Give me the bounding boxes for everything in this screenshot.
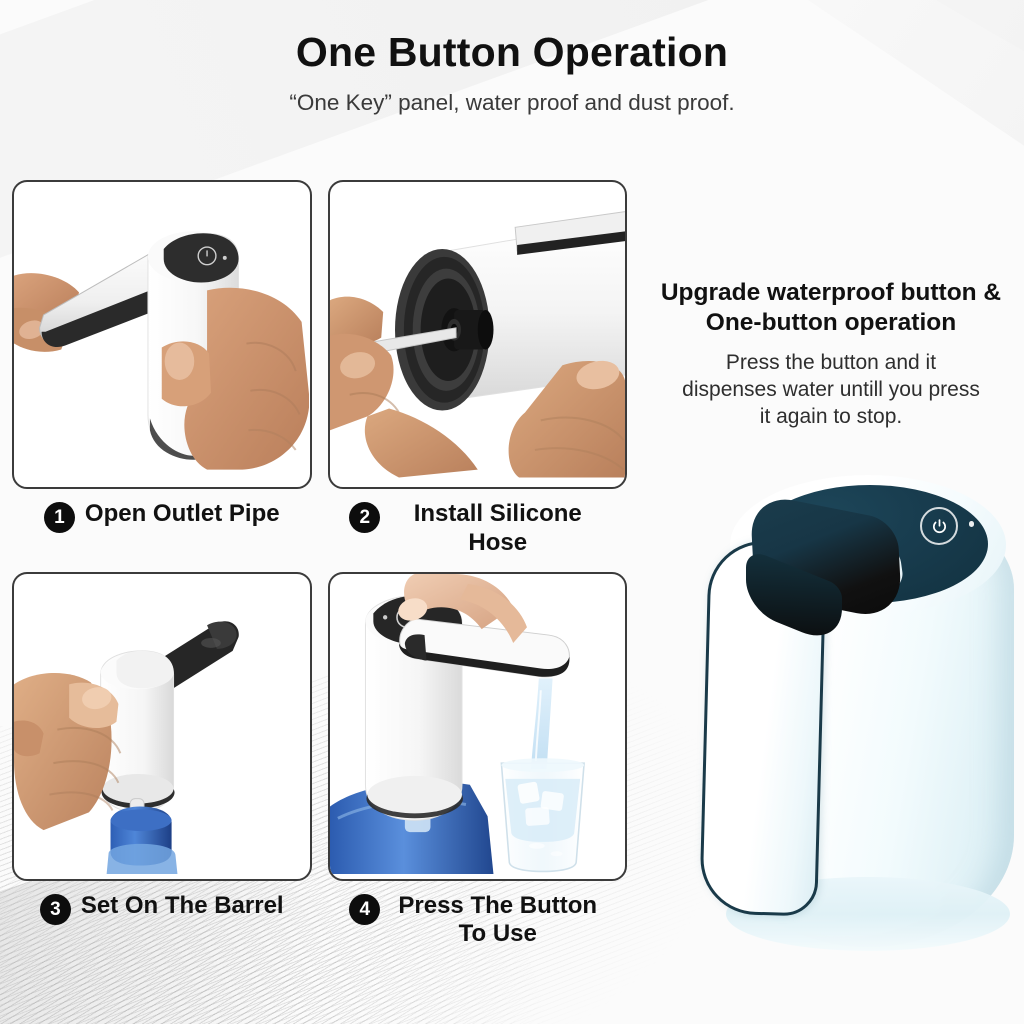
steps-grid: 1 Open Outlet Pipe (12, 180, 627, 949)
step-photo-2 (328, 180, 628, 489)
step-photo-3 (12, 572, 312, 881)
feature-heading-line-1: Upgrade waterproof button & (661, 279, 1001, 306)
step-caption-4: 4 Press The Button To Use (328, 881, 628, 950)
illustration-install-silicone-hose (330, 182, 625, 482)
step-badge-4: 4 (349, 894, 380, 925)
power-button-icon[interactable] (920, 507, 958, 545)
step-card-2: 2 Install Silicone Hose (328, 180, 628, 558)
feature-body-line-3: it again to stop. (760, 405, 902, 428)
step-badge-3: 3 (40, 894, 71, 925)
step-caption-3: 3 Set On The Barrel (12, 881, 312, 925)
step-badge-1: 1 (44, 502, 75, 533)
step-photo-1 (12, 180, 312, 489)
illustration-press-the-button-to-use (330, 574, 625, 874)
step-badge-2: 2 (349, 502, 380, 533)
feature-heading-line-2: One-button operation (706, 309, 956, 336)
page-title: One Button Operation (0, 30, 1024, 75)
feature-heading: Upgrade waterproof button & One-button o… (636, 278, 1024, 338)
feature-body-line-1: Press the button and it (726, 351, 936, 374)
feature-text-block: Upgrade waterproof button & One-button o… (636, 278, 1024, 430)
step-label-3: Set On The Barrel (81, 892, 284, 921)
steps-row-top: 1 Open Outlet Pipe (12, 180, 627, 558)
page-subtitle: “One Key” panel, water proof and dust pr… (0, 89, 1024, 116)
steps-row-bottom: 3 Set On The Barrel (12, 572, 627, 950)
illustration-open-outlet-pipe (14, 182, 309, 482)
step-caption-2: 2 Install Silicone Hose (328, 489, 628, 558)
feature-body: Press the button and it dispenses water … (636, 350, 1024, 431)
step-label-1: Open Outlet Pipe (85, 500, 280, 529)
hero-product-image (690, 455, 1020, 975)
step-card-3: 3 Set On The Barrel (12, 572, 312, 950)
step-card-1: 1 Open Outlet Pipe (12, 180, 312, 558)
step-caption-1: 1 Open Outlet Pipe (12, 489, 312, 533)
step-card-4: 4 Press The Button To Use (328, 572, 628, 950)
illustration-set-on-the-barrel (14, 574, 309, 874)
led-indicator-dot (969, 521, 975, 527)
feature-body-line-2: dispenses water untill you press (682, 378, 980, 401)
step-label-4: Press The Button To Use (390, 892, 605, 950)
step-photo-4 (328, 572, 628, 881)
step-label-2: Install Silicone Hose (390, 500, 605, 558)
header: One Button Operation “One Key” panel, wa… (0, 30, 1024, 116)
